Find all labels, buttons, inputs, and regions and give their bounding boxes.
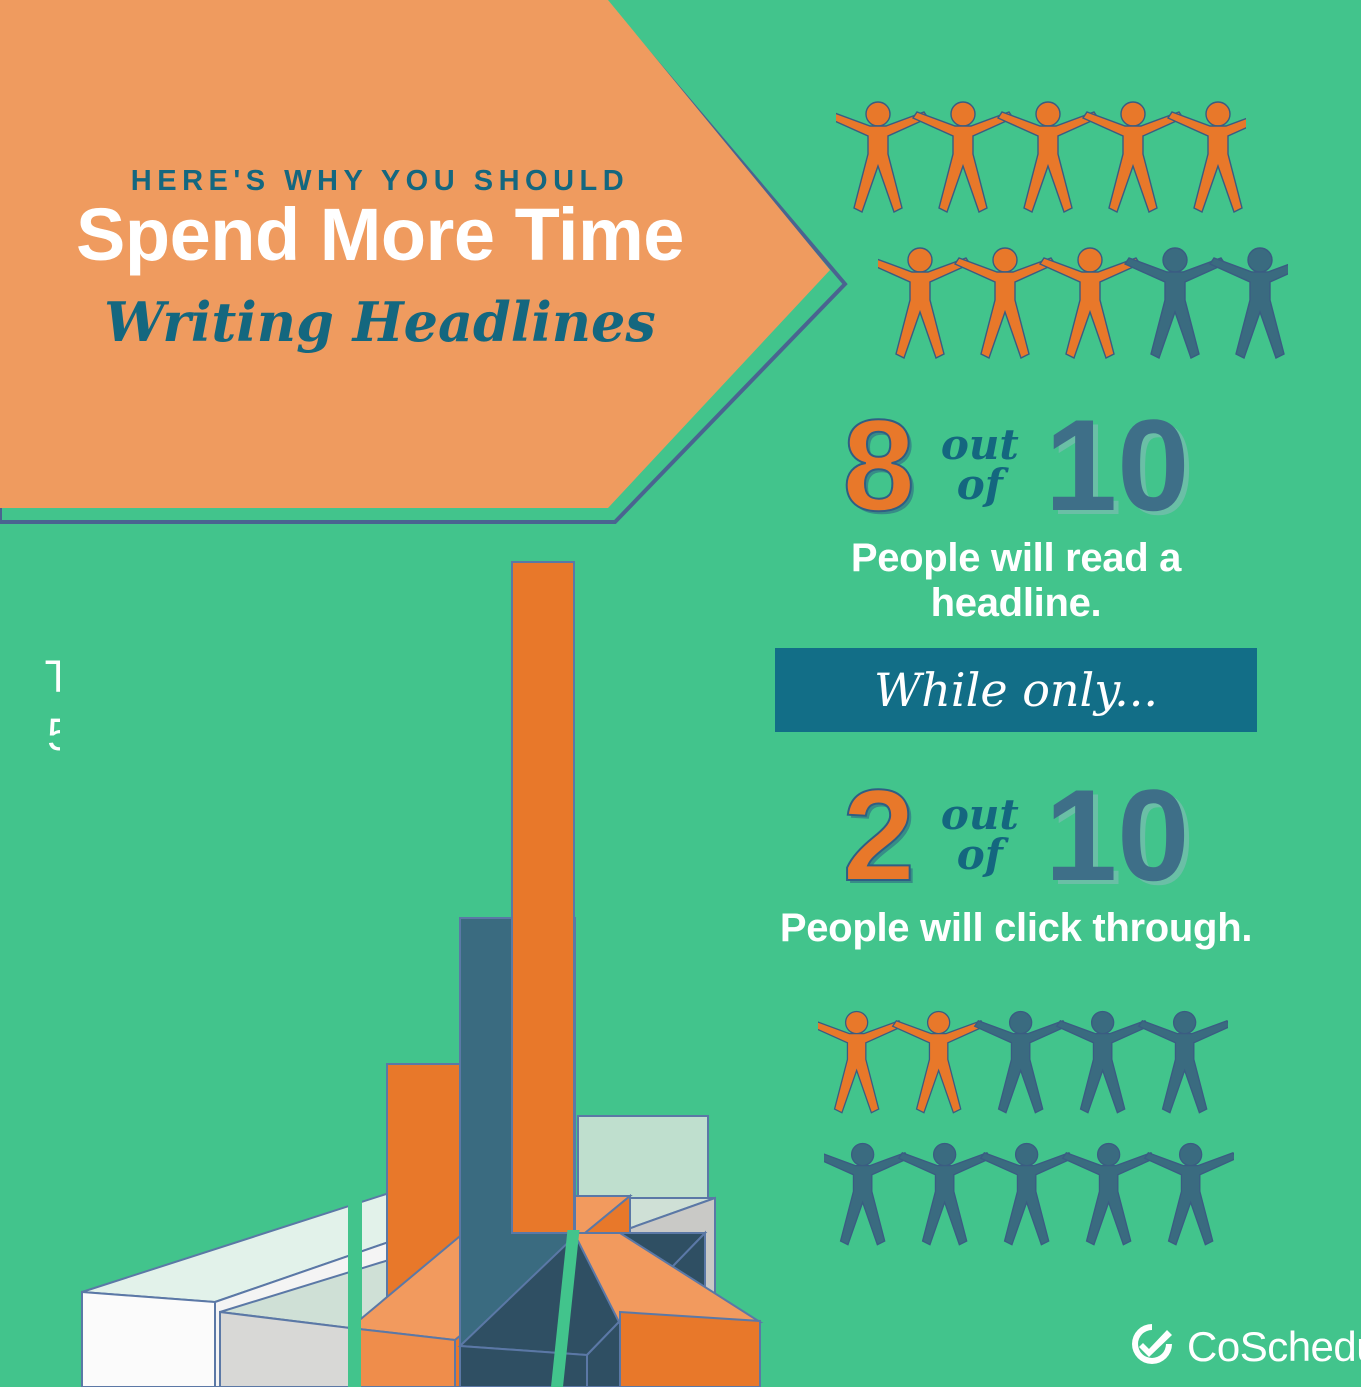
- header-subtitle: Writing Headlines: [0, 290, 760, 354]
- stat-read-headline: 8 out of 10 People will read a headline.: [775, 400, 1257, 626]
- chart-bar-6: [620, 1312, 760, 1387]
- while-only-label: While only...: [874, 663, 1158, 717]
- stat-numerator: 2: [843, 770, 915, 900]
- header-title: Spend More Time: [0, 196, 760, 274]
- people-group-click: [818, 1006, 1234, 1256]
- people-row: [836, 96, 1288, 228]
- stat-caption: People will read a headline.: [775, 536, 1257, 626]
- coschedule-logo[interactable]: CoSchedule: [1130, 1322, 1361, 1371]
- ratio-8-of-10: 8 out of 10: [775, 400, 1257, 530]
- header-banner: HERE'S WHY YOU SHOULD Spend More Time Wr…: [0, 0, 880, 540]
- stat-denominator: 10: [1045, 770, 1190, 900]
- ratio-2-of-10: 2 out of 10: [775, 770, 1257, 900]
- of-word: of: [957, 830, 1003, 879]
- stat-click-through: 2 out of 10 People will click through.: [775, 770, 1257, 951]
- out-of-label: out of: [941, 795, 1019, 875]
- out-of-label: out of: [941, 425, 1019, 505]
- check-circle-icon: [1130, 1322, 1174, 1371]
- stat-caption: People will click through.: [775, 906, 1257, 951]
- infographic-canvas: HERE'S WHY YOU SHOULD Spend More Time Wr…: [0, 0, 1361, 1387]
- traffic-bar-chart-render: [60, 540, 770, 1387]
- of-word: of: [957, 460, 1003, 509]
- people-row: [878, 242, 1288, 374]
- people-row: [818, 1006, 1234, 1124]
- people-row: [824, 1138, 1234, 1256]
- logo-wordmark: CoSchedule: [1187, 1323, 1361, 1371]
- people-group-read: [836, 96, 1288, 374]
- stat-denominator: 10: [1045, 400, 1190, 530]
- while-only-banner: While only...: [775, 648, 1257, 732]
- stat-numerator: 8: [843, 400, 915, 530]
